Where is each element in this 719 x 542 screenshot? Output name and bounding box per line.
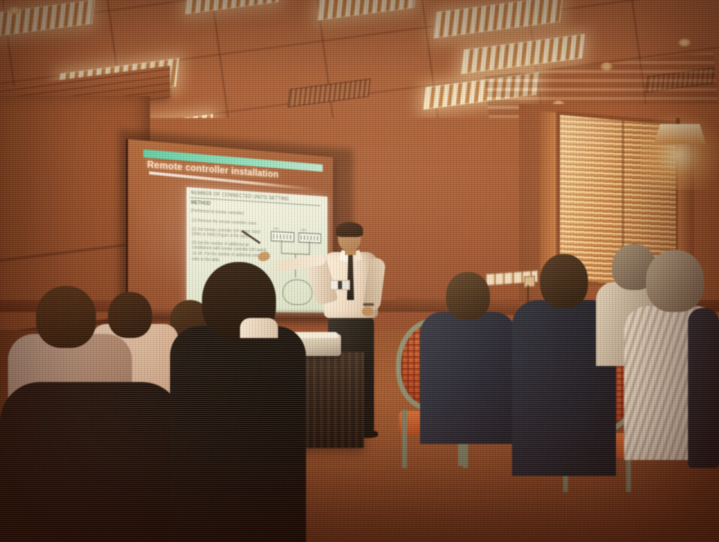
attendee-shirt-collar: [240, 318, 278, 338]
attendee-head: [540, 254, 588, 308]
attendee-center-collar: [240, 318, 278, 338]
attendee-left-2: [0, 382, 182, 542]
attendee-head: [36, 286, 96, 348]
chair-leg: [402, 410, 407, 468]
attendee-head: [446, 272, 490, 320]
presenter-wristwatch: [363, 303, 374, 306]
presenter-hair: [336, 222, 363, 237]
wall-sconce-shade: [654, 124, 706, 144]
ceiling-downlight: [8, 6, 21, 15]
attendee-torso: [688, 308, 719, 468]
presenter-hand: [362, 307, 373, 316]
attendee-torso: [170, 326, 306, 542]
attendee-torso: [420, 312, 516, 444]
attendee-right-1: [420, 272, 516, 442]
attendee-far-right: [688, 288, 719, 468]
presenter-name-badge: [330, 280, 350, 290]
ceiling-downlight: [678, 38, 691, 47]
attendee-torso: [0, 382, 182, 542]
attendee-center-dark: [170, 262, 306, 542]
conference-room-photo: Remote controller installation NUMBER OF…: [0, 0, 719, 542]
